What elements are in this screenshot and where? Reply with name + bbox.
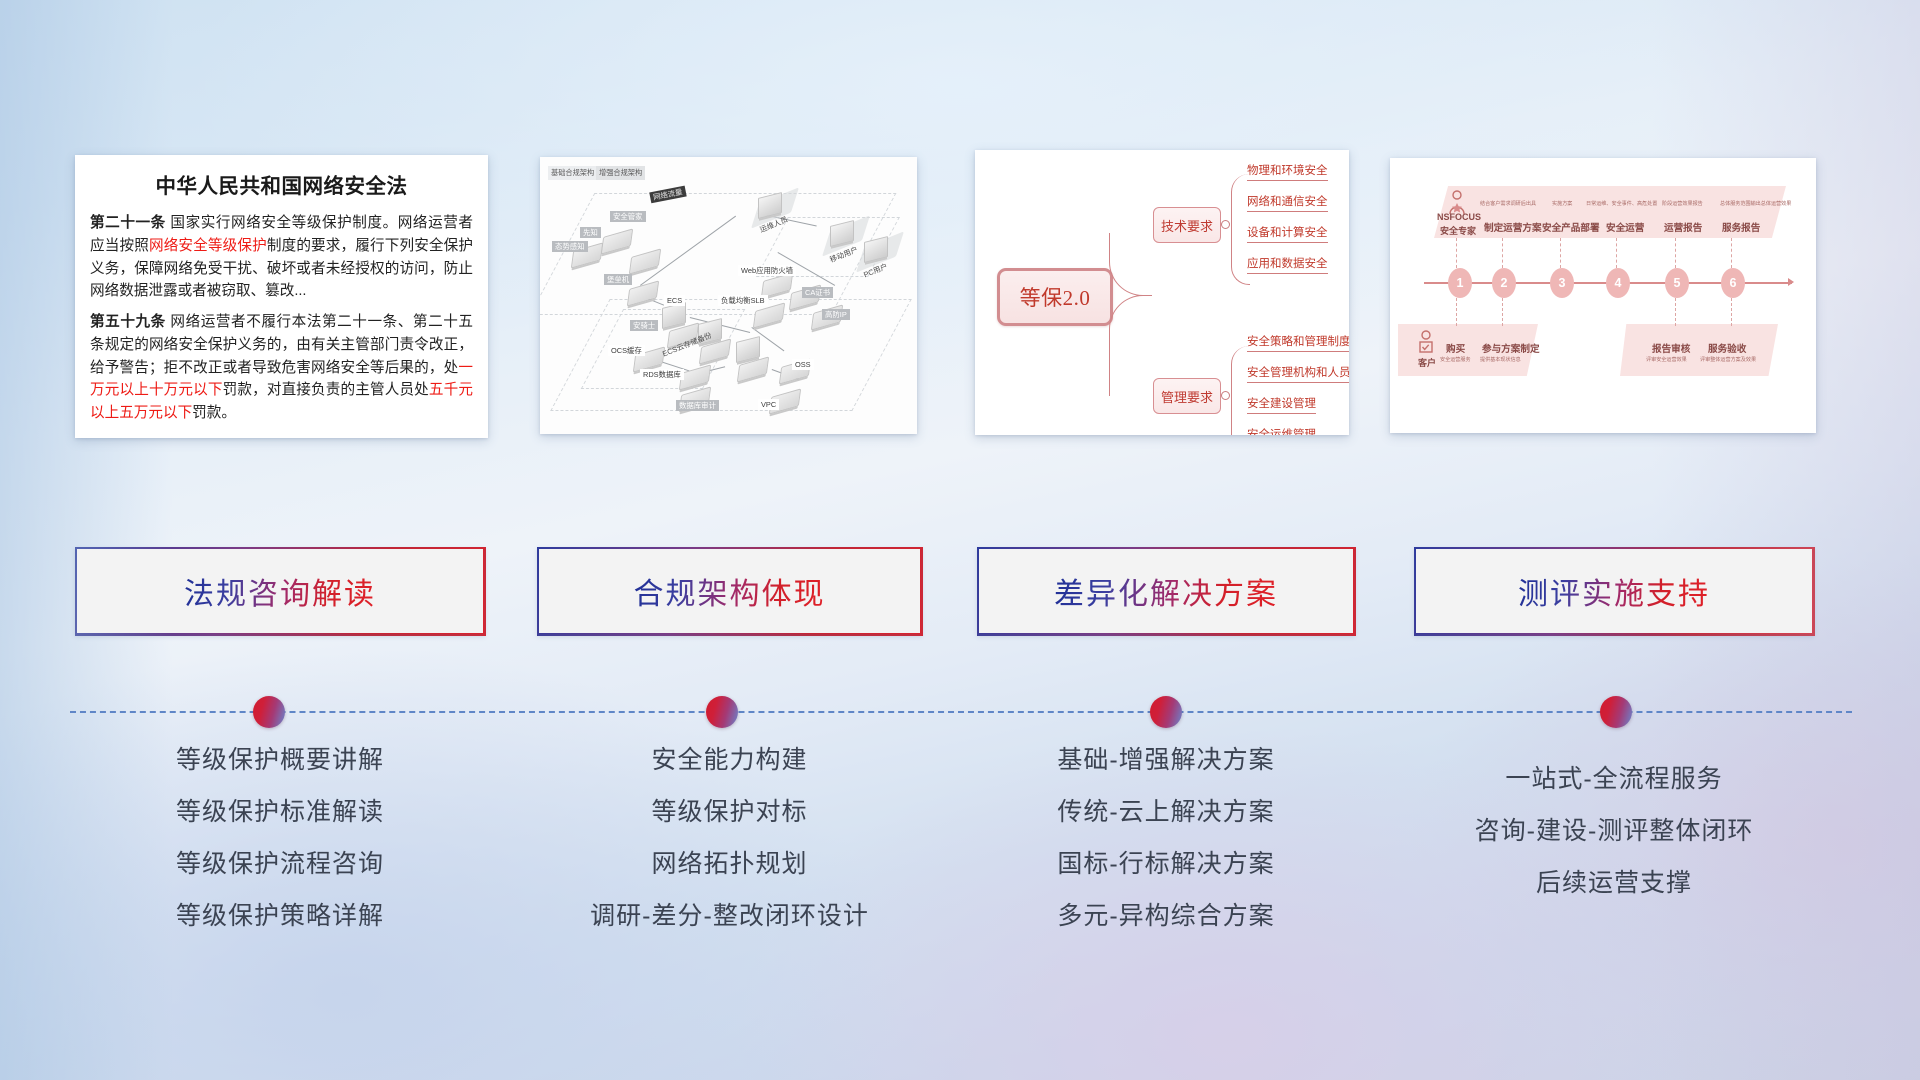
thumbnail-card-row: 中华人民共和国网络安全法 第二十一条 国家实行网络安全等级保护制度。网络运营者应…	[0, 0, 1920, 470]
arch-node-icon	[738, 361, 768, 378]
law-title: 中华人民共和国网络安全法	[90, 169, 473, 199]
section-items-2: 基础-增强解决方案 传统-云上解决方案 国标-行标解决方案 多元-异构综合方案	[977, 748, 1355, 956]
list-item: 调研-差分-整改闭环设计	[537, 904, 922, 929]
list-item: 后续运营支撑	[1414, 871, 1814, 896]
flow-step-3-caption: 安全产品部署	[1542, 220, 1600, 234]
flow-tick	[1675, 298, 1677, 326]
list-item: 一站式-全流程服务	[1414, 767, 1814, 792]
flow-customer-step-3-sub: 评审安全运营效果	[1646, 356, 1687, 363]
flow-customer-step-2-caption: 参与方案制定	[1482, 341, 1540, 355]
section-title-box-2[interactable]: 差异化解决方案	[977, 547, 1355, 635]
card-service-flow[interactable]: NSFOCUS 安全专家 客户 1 2 3 4 5 6	[1390, 158, 1816, 433]
list-item: 咨询-建设-测评整体闭环	[1414, 819, 1814, 844]
arch-tab-basic[interactable]: 基础合规架构	[548, 166, 597, 180]
law-article-21-highlight: 网络安全等级保护	[149, 238, 267, 254]
arch-label-oss: OSS	[792, 359, 814, 370]
list-item: 等级保护流程咨询	[75, 852, 485, 877]
arch-label-situation-aware: 态势感知	[552, 241, 588, 252]
flow-tick	[1616, 238, 1618, 268]
arch-label-vpc: VPC	[758, 399, 779, 410]
flow-axis-arrow-icon	[1788, 278, 1794, 286]
timeline	[0, 692, 1920, 732]
timeline-dot-2[interactable]	[1150, 696, 1182, 728]
arch-node-icon	[830, 223, 854, 244]
mindmap-leaf-ops-mgmt[interactable]: 安全运维管理	[1247, 426, 1316, 435]
flow-step-6-sub: 总体服务范围输出总体运营效果	[1720, 200, 1791, 207]
timeline-dot-0[interactable]	[253, 696, 285, 728]
flow-step-3-sub: 实施方案	[1552, 200, 1572, 207]
mindmap-collapse-dot-mgmt[interactable]	[1221, 391, 1230, 400]
timeline-dashed-line	[70, 711, 1852, 713]
flow-step-node-6[interactable]: 6	[1721, 268, 1745, 298]
arch-label-anti-ddos-ip: 高防IP	[822, 309, 850, 320]
mindmap-leaf-build-mgmt[interactable]: 安全建设管理	[1247, 395, 1316, 414]
flow-tick	[1731, 238, 1733, 268]
section-title-label-0: 法规咨询解读	[184, 569, 376, 613]
card-dengbao-mindmap[interactable]: 等保2.0 技术要求 管理要求 物理和环境安全 网络和通信安全 设备和计算安全 …	[975, 150, 1349, 435]
arch-label-db-audit: 数据库审计	[676, 400, 719, 411]
list-item: 传统-云上解决方案	[977, 800, 1355, 825]
law-article-59-text-end: 罚款。	[192, 405, 236, 421]
arch-node-icon	[630, 253, 660, 270]
section-title-row: 法规咨询解读 合规架构体现 差异化解决方案 测评实施支持	[0, 547, 1920, 643]
law-article-59-label: 第五十九条	[90, 314, 166, 330]
flow-step-2-sub: 结合客户需求调研后出具	[1480, 200, 1536, 207]
flow-tick	[1502, 238, 1504, 268]
flow-step-node-2[interactable]: 2	[1492, 268, 1516, 298]
mindmap-collapse-dot-tech[interactable]	[1221, 220, 1230, 229]
mindmap-leaf-app-data[interactable]: 应用和数据安全	[1247, 255, 1328, 274]
mindmap: 等保2.0 技术要求 管理要求 物理和环境安全 网络和通信安全 设备和计算安全 …	[975, 150, 1349, 435]
list-item: 安全能力构建	[537, 748, 922, 773]
mindmap-leaf-physical-env[interactable]: 物理和环境安全	[1247, 162, 1328, 181]
arch-tab-enhanced[interactable]: 增强合规架构	[596, 166, 645, 180]
section-items-1: 安全能力构建 等级保护对标 网络拓扑规划 调研-差分-整改闭环设计	[537, 748, 922, 956]
expert-person-icon	[1446, 190, 1468, 214]
flow-step-6-caption: 服务报告	[1722, 220, 1760, 234]
arch-node-icon	[628, 285, 658, 302]
architecture-diagram: 基础合规架构 增强合规架构	[540, 157, 917, 434]
arch-node-icon	[736, 339, 760, 360]
list-item: 等级保护对标	[537, 800, 922, 825]
list-item: 国标-行标解决方案	[977, 852, 1355, 877]
arch-label-security-butler: 安全管家	[610, 211, 646, 222]
flow-customer-step-4-sub: 评审整体运营方案及效果	[1700, 356, 1756, 363]
mindmap-root-node: 等保2.0	[997, 268, 1113, 326]
flow-step-node-3[interactable]: 3	[1550, 268, 1574, 298]
flow-expert-role-line2: 安全专家	[1440, 224, 1476, 237]
mindmap-branch-technical[interactable]: 技术要求	[1153, 207, 1221, 243]
mindmap-branch-management[interactable]: 管理要求	[1153, 378, 1221, 414]
arch-node-icon	[680, 369, 710, 386]
arch-label-xianzhi: 先知	[580, 227, 601, 238]
mindmap-leaf-org-personnel[interactable]: 安全管理机构和人员	[1247, 364, 1349, 383]
arch-label-ocs-cache: OCS缓存	[608, 345, 645, 356]
customer-person-icon	[1416, 330, 1436, 356]
arch-node-icon	[700, 343, 730, 360]
arch-node-icon	[662, 305, 686, 326]
mindmap-leaf-device-compute[interactable]: 设备和计算安全	[1247, 224, 1328, 243]
arch-label-slb: 负载均衡SLB	[718, 295, 768, 306]
arch-label-ecs: ECS	[664, 295, 685, 306]
flow-tick	[1560, 238, 1562, 268]
flow-banner-customer-right	[1620, 324, 1778, 376]
section-title-label-2: 差异化解决方案	[1054, 569, 1278, 613]
list-item: 多元-异构综合方案	[977, 904, 1355, 929]
flow-tick	[1456, 298, 1458, 326]
flow-expert-role-line1: NSFOCUS	[1437, 212, 1481, 222]
list-item: 等级保护策略详解	[75, 904, 485, 929]
arch-label-bastion-host: 堡垒机	[604, 274, 632, 285]
flow-tick	[1456, 238, 1458, 268]
section-title-label-3: 测评实施支持	[1518, 569, 1710, 613]
list-item: 等级保护标准解读	[75, 800, 485, 825]
flow-step-4-sub: 日常运维、安全事件、高危处置	[1586, 200, 1657, 207]
timeline-dot-3[interactable]	[1600, 696, 1632, 728]
mindmap-leaf-network-comm[interactable]: 网络和通信安全	[1247, 193, 1328, 212]
arch-label-anqishi: 安骑士	[630, 320, 658, 331]
mindmap-curve-mgmt	[1109, 295, 1152, 396]
flow-tick	[1731, 298, 1733, 326]
list-item: 网络拓扑规划	[537, 852, 922, 877]
section-title-box-0[interactable]: 法规咨询解读	[75, 547, 485, 635]
arch-node-icon	[762, 277, 792, 294]
flow-step-node-4[interactable]: 4	[1606, 268, 1630, 298]
arch-label-ca-cert: CA证书	[802, 287, 833, 298]
list-item: 等级保护概要讲解	[75, 748, 485, 773]
mindmap-curve-tech	[1109, 233, 1152, 296]
arch-node-icon	[864, 239, 888, 260]
timeline-dot-1[interactable]	[706, 696, 738, 728]
law-article-21: 第二十一条 国家实行网络安全等级保护制度。网络运营者应当按照网络安全等级保护制度…	[90, 212, 473, 303]
list-item: 基础-增强解决方案	[977, 748, 1355, 773]
card-cybersecurity-law[interactable]: 中华人民共和国网络安全法 第二十一条 国家实行网络安全等级保护制度。网络运营者应…	[75, 155, 488, 438]
flow-customer-step-1-sub: 安全运营服务	[1440, 356, 1471, 363]
law-article-21-label: 第二十一条	[90, 215, 166, 231]
section-title-box-3[interactable]: 测评实施支持	[1414, 547, 1814, 635]
section-items-0: 等级保护概要讲解 等级保护标准解读 等级保护流程咨询 等级保护策略详解	[75, 748, 485, 956]
flow-customer-step-2-sub: 提供基本现状信息	[1480, 356, 1521, 363]
arch-node-icon	[754, 307, 784, 324]
flow-step-node-1[interactable]: 1	[1448, 268, 1472, 298]
section-title-box-1[interactable]: 合规架构体现	[537, 547, 922, 635]
service-flow-diagram: NSFOCUS 安全专家 客户 1 2 3 4 5 6	[1390, 158, 1816, 433]
flow-step-node-5[interactable]: 5	[1665, 268, 1689, 298]
flow-step-5-caption: 运营报告	[1664, 220, 1702, 234]
flow-customer-step-1-caption: 购买	[1446, 341, 1465, 355]
flow-customer-step-4-caption: 服务验收	[1708, 341, 1746, 355]
arch-label-rds: RDS数据库	[640, 369, 684, 380]
law-article-59: 第五十九条 网络运营者不履行本法第二十一条、第二十五条规定的网络安全保护义务的，…	[90, 311, 473, 425]
section-items-3: 一站式-全流程服务 咨询-建设-测评整体闭环 后续运营支撑	[1414, 767, 1814, 923]
arch-node-icon	[602, 233, 632, 250]
section-items-row: 等级保护概要讲解 等级保护标准解读 等级保护流程咨询 等级保护策略详解 安全能力…	[0, 738, 1920, 1008]
flow-customer-step-3-caption: 报告审核	[1652, 341, 1690, 355]
mindmap-leaf-policy-system[interactable]: 安全策略和管理制度	[1247, 333, 1349, 352]
flow-step-5-sub: 阶段运营效果报告	[1662, 200, 1703, 207]
card-compliance-architecture[interactable]: 基础合规架构 增强合规架构	[540, 157, 917, 434]
law-article-59-text-mid: 罚款，对直接负责的主管人员处	[223, 382, 429, 398]
flow-tick	[1675, 238, 1677, 268]
flow-customer-role: 客户	[1418, 356, 1436, 369]
flow-step-2-caption: 制定运营方案	[1484, 220, 1542, 234]
section-title-label-1: 合规架构体现	[634, 569, 826, 613]
flow-step-4-caption: 安全运营	[1606, 220, 1644, 234]
flow-tick	[1502, 298, 1504, 326]
arch-label-waf: Web应用防火墙	[738, 265, 796, 276]
arch-node-icon	[758, 195, 782, 216]
